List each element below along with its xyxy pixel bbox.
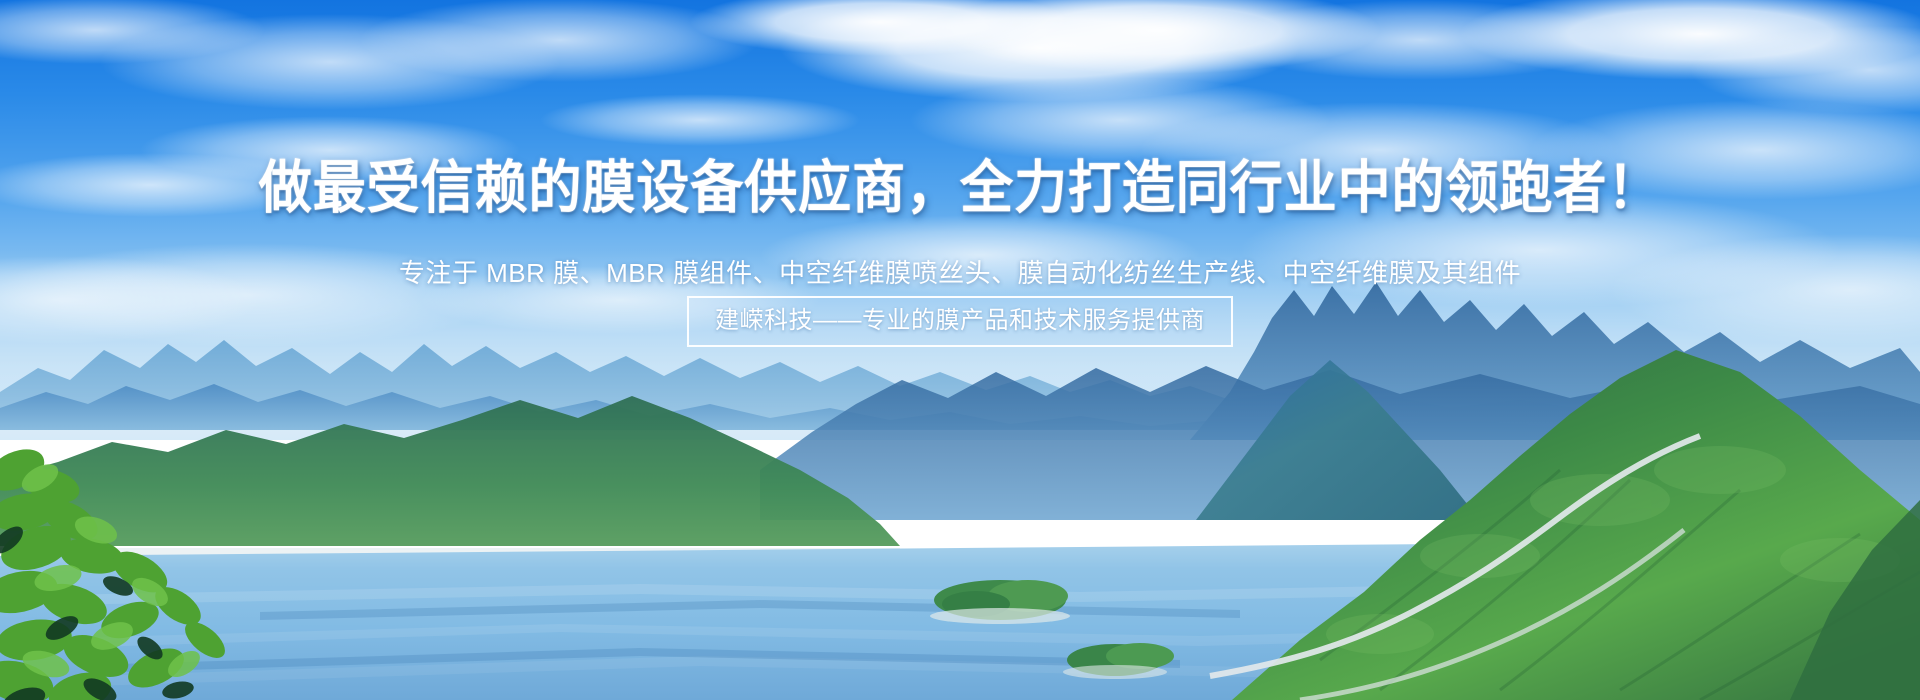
banner-headline: 做最受信赖的膜设备供应商，全力打造同行业中的领跑者！ bbox=[67, 156, 1853, 220]
scene-background-image bbox=[0, 0, 1920, 700]
banner-subheadline: 专注于 MBR 膜、MBR 膜组件、中空纤维膜喷丝头、膜自动化纺丝生产线、中空纤… bbox=[0, 256, 1920, 290]
hero-banner: 做最受信赖的膜设备供应商，全力打造同行业中的领跑者！ 专注于 MBR 膜、MBR… bbox=[0, 0, 1920, 700]
banner-tagline-box: 建嵘科技——专业的膜产品和技术服务提供商 bbox=[687, 296, 1233, 347]
